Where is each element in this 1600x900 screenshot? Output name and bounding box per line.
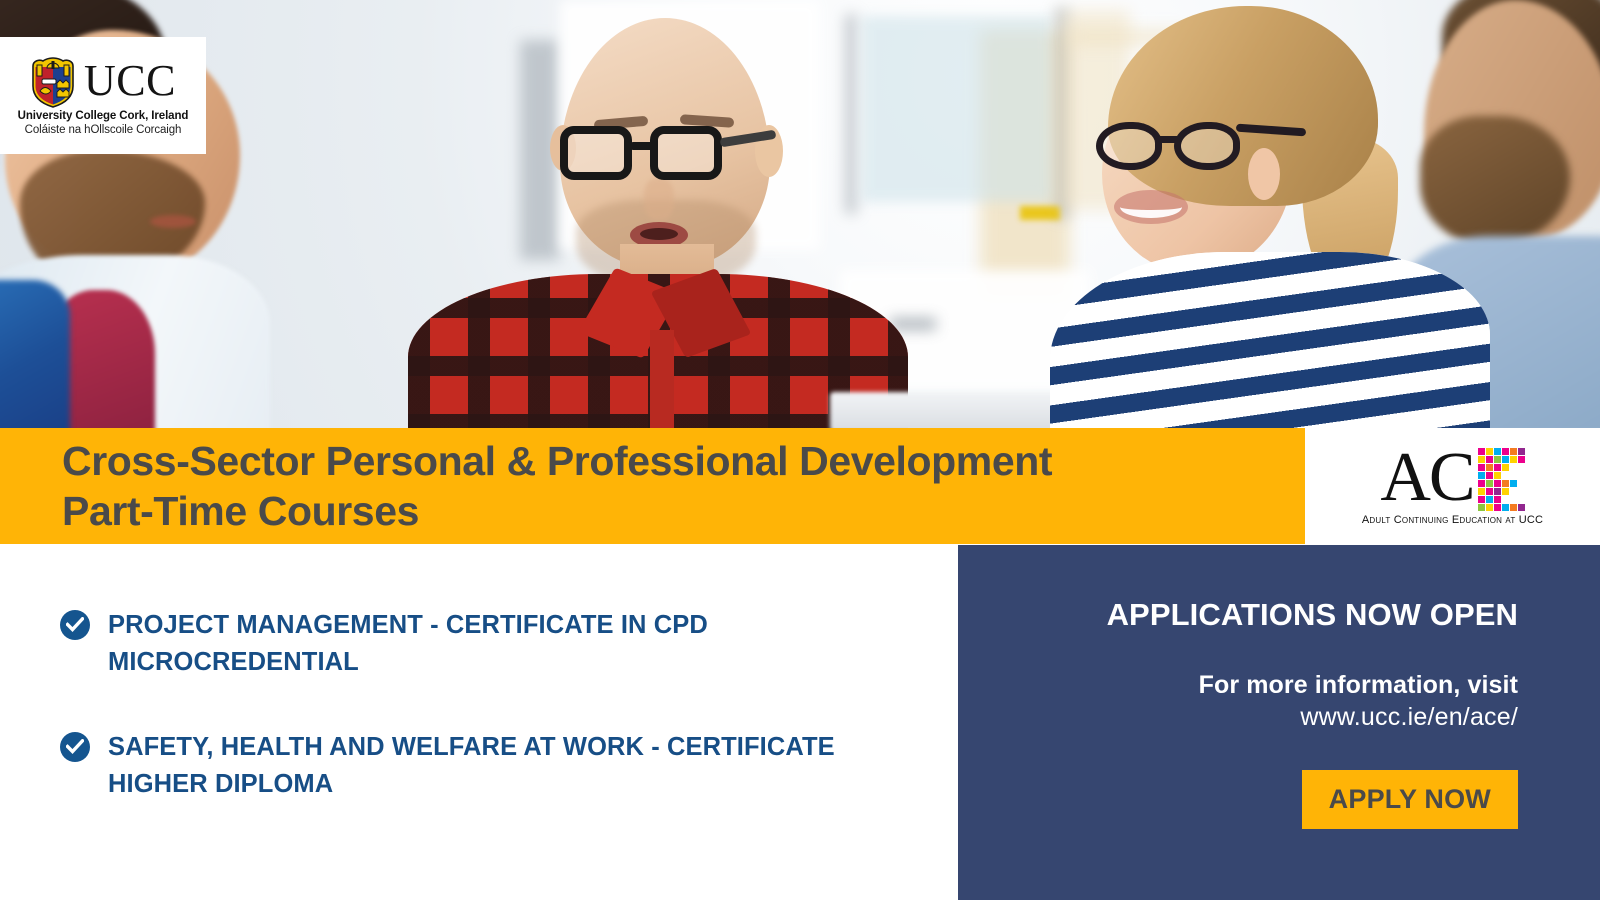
ace-logo-caption: Adult Continuing Education at UCC bbox=[1362, 514, 1543, 526]
hero-photo bbox=[0, 0, 1600, 428]
person-left-shoulder bbox=[0, 280, 70, 428]
person-right-striped-top bbox=[1050, 252, 1490, 428]
glasses-lens-right bbox=[650, 126, 722, 180]
apply-now-button[interactable]: APPLY NOW bbox=[1302, 770, 1518, 829]
cta-subheading: For more information, visit bbox=[998, 671, 1518, 700]
ace-logo[interactable]: AC Adult Continuing Education at UCC bbox=[1305, 428, 1600, 545]
person-left-lips bbox=[150, 215, 196, 228]
glasses-bridge-2 bbox=[1158, 136, 1178, 143]
ucc-logo-top-row: UCC bbox=[30, 56, 176, 108]
glasses-lens-right-2 bbox=[1174, 122, 1240, 170]
course-title: SAFETY, HEALTH AND WELFARE AT WORK - CER… bbox=[108, 729, 868, 803]
check-circle-icon bbox=[60, 610, 90, 640]
ucc-wordmark: UCC bbox=[84, 63, 176, 99]
person-right-smile bbox=[1120, 196, 1182, 218]
ace-letters-ac: AC bbox=[1380, 453, 1473, 503]
ucc-coat-of-arms-icon bbox=[30, 56, 76, 108]
person-right bbox=[1060, 0, 1480, 428]
ucc-logo-line1: University College Cork, Ireland bbox=[18, 110, 189, 122]
person-center-glasses bbox=[560, 126, 725, 180]
person-center bbox=[408, 0, 908, 428]
course-title: PROJECT MANAGEMENT - CERTIFICATE IN CPD … bbox=[108, 607, 868, 681]
glasses-bridge bbox=[630, 142, 654, 150]
poster-canvas: UCC University College Cork, Ireland Col… bbox=[0, 0, 1600, 900]
glasses-lens-left-2 bbox=[1096, 122, 1162, 170]
title-banner: Cross-Sector Personal & Professional Dev… bbox=[0, 428, 1305, 544]
list-item[interactable]: SAFETY, HEALTH AND WELFARE AT WORK - CER… bbox=[60, 729, 898, 803]
cta-heading: APPLICATIONS NOW OPEN bbox=[998, 597, 1518, 633]
list-item[interactable]: PROJECT MANAGEMENT - CERTIFICATE IN CPD … bbox=[60, 607, 898, 681]
shirt-placket bbox=[650, 330, 674, 428]
ace-logo-letters: AC bbox=[1380, 447, 1524, 509]
cta-url[interactable]: www.ucc.ie/en/ace/ bbox=[998, 703, 1518, 732]
person-center-nose bbox=[644, 178, 674, 220]
office-label-yellow bbox=[1020, 206, 1060, 220]
banner-title: Cross-Sector Personal & Professional Dev… bbox=[62, 436, 1052, 536]
course-list: PROJECT MANAGEMENT - CERTIFICATE IN CPD … bbox=[0, 545, 958, 900]
person-right-hair bbox=[1108, 6, 1378, 206]
glasses-lens-left bbox=[560, 126, 632, 180]
ucc-logo-line2: Coláiste na hOllscoile Corcaigh bbox=[25, 124, 182, 136]
person-right-ear bbox=[1248, 148, 1280, 200]
cta-panel: APPLICATIONS NOW OPEN For more informati… bbox=[958, 545, 1600, 900]
ucc-logo[interactable]: UCC University College Cork, Ireland Col… bbox=[0, 37, 206, 154]
banner-title-line1: Cross-Sector Personal & Professional Dev… bbox=[62, 436, 1052, 486]
stripe-pattern bbox=[1050, 252, 1490, 428]
banner-title-line2: Part-Time Courses bbox=[62, 486, 1052, 536]
ace-pixel-e-icon bbox=[1478, 448, 1525, 511]
check-circle-icon bbox=[60, 732, 90, 762]
person-right-glasses bbox=[1096, 122, 1244, 170]
person-center-mouth-inner bbox=[640, 228, 678, 240]
